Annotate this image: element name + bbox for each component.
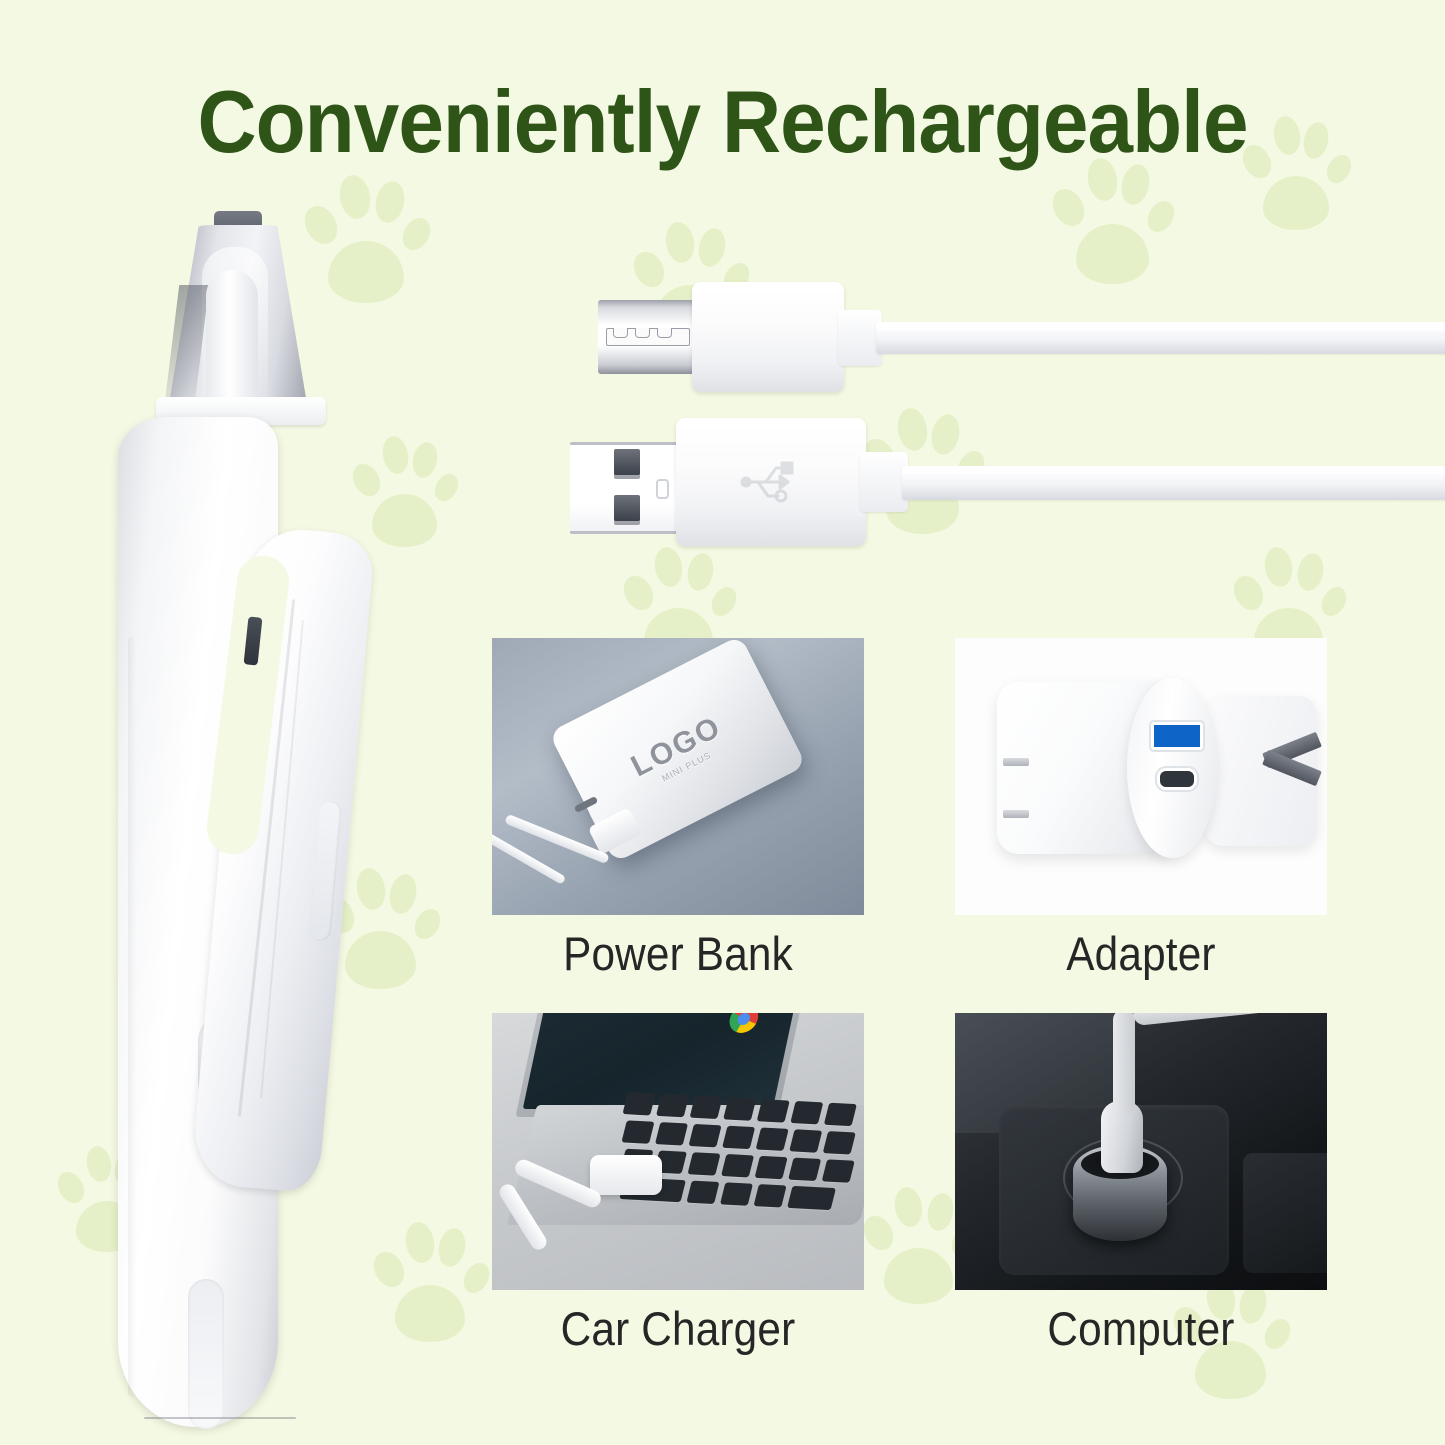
product-lower-slot xyxy=(188,1279,224,1429)
car-charger-photo xyxy=(492,1013,864,1290)
us-prong-top xyxy=(1003,758,1029,766)
charging-option-computer[interactable]: Computer xyxy=(955,1013,1327,1348)
micro-usb-housing xyxy=(692,282,844,392)
adapter-usb-c-port xyxy=(1157,768,1197,790)
micro-usb-cable xyxy=(598,282,1445,402)
charging-option-car-charger[interactable]: Car Charger xyxy=(492,1013,864,1348)
usb-c-connector xyxy=(590,1155,662,1195)
micro-usb-connector-tip xyxy=(598,300,702,374)
adapter-photo xyxy=(955,638,1327,915)
product-body-ridge xyxy=(128,637,136,1397)
adapter-second-unit xyxy=(1205,696,1317,846)
console-vent xyxy=(1243,1153,1327,1273)
browser-icon xyxy=(727,1013,761,1033)
infographic-canvas: Conveniently Rechargeable OFF xyxy=(0,0,1445,1445)
usb-a-keying-slot xyxy=(656,479,669,499)
charging-option-adapter[interactable]: Adapter xyxy=(955,638,1327,973)
product-nail-clipper-image: OFF xyxy=(96,225,456,1430)
caption-computer: Computer xyxy=(974,1301,1309,1356)
usb-a-cord xyxy=(902,466,1445,500)
product-blade xyxy=(206,270,258,400)
caption-adapter: Adapter xyxy=(974,926,1309,981)
power-bank-photo: LOGO MINI PLUS xyxy=(492,638,864,915)
arm-grip-ridges xyxy=(308,800,342,941)
usb-a-pin-top xyxy=(614,449,640,475)
usb-a-cable xyxy=(570,418,1445,550)
car-charger-cord xyxy=(1113,1013,1135,1115)
usb-a-connector-tip xyxy=(570,442,680,534)
page-title: Conveniently Rechargeable xyxy=(51,78,1395,166)
adapter-usb-a-port xyxy=(1151,722,1203,750)
usb-a-housing xyxy=(676,418,866,546)
micro-usb-contacts xyxy=(606,328,690,346)
us-prong-bottom xyxy=(1003,810,1029,818)
charging-option-power-bank[interactable]: LOGO MINI PLUS Power Bank xyxy=(492,638,864,973)
computer-photo xyxy=(955,1013,1327,1290)
micro-usb-cord xyxy=(876,322,1445,354)
usb-trident-icon xyxy=(738,456,800,508)
product-seam-line xyxy=(144,1417,296,1419)
usb-a-strain-relief xyxy=(860,452,908,512)
usb-a-pin-bottom xyxy=(614,495,640,521)
caption-car-charger: Car Charger xyxy=(511,1301,846,1356)
caption-power-bank: Power Bank xyxy=(511,926,846,981)
